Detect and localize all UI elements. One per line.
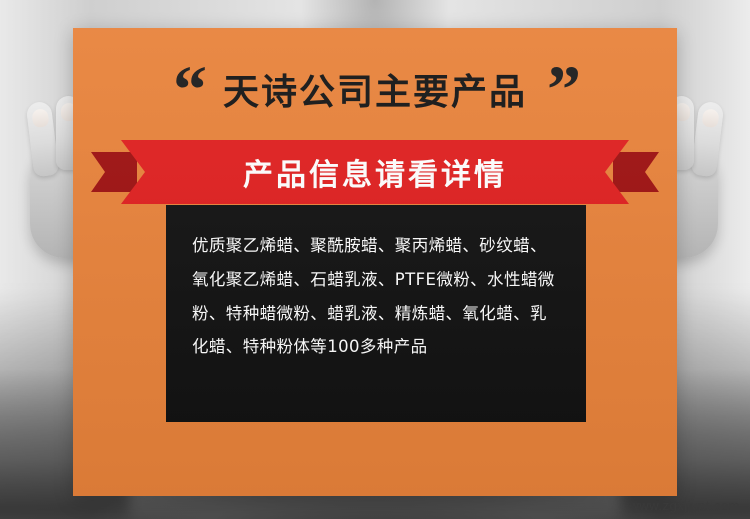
right-finger-1: [691, 101, 725, 177]
headline: “ 天诗公司主要产品 ”: [73, 52, 677, 126]
watermark: www.zgxjjypt.com: [629, 498, 740, 513]
quote-close-icon: ”: [547, 69, 577, 110]
photo-canvas: “ 天诗公司主要产品 ” 产品信息请看详情 优质聚乙烯蜡、聚酰胺蜡、聚丙烯蜡、砂…: [0, 0, 750, 519]
fingernail: [701, 108, 719, 128]
headline-text: 天诗公司主要产品: [223, 63, 527, 115]
quote-open-icon: “: [173, 69, 203, 110]
product-list-panel: 优质聚乙烯蜡、聚酰胺蜡、聚丙烯蜡、砂纹蜡、氧化聚乙烯蜡、石蜡乳液、PTFE微粉、…: [166, 205, 586, 422]
ribbon-banner: 产品信息请看详情: [91, 140, 659, 204]
fingernail: [31, 108, 49, 128]
ribbon-text: 产品信息请看详情: [91, 140, 659, 204]
product-list-text: 优质聚乙烯蜡、聚酰胺蜡、聚丙烯蜡、砂纹蜡、氧化聚乙烯蜡、石蜡乳液、PTFE微粉、…: [192, 229, 560, 364]
orange-board: “ 天诗公司主要产品 ” 产品信息请看详情 优质聚乙烯蜡、聚酰胺蜡、聚丙烯蜡、砂…: [73, 28, 677, 496]
left-finger-1: [26, 101, 60, 177]
